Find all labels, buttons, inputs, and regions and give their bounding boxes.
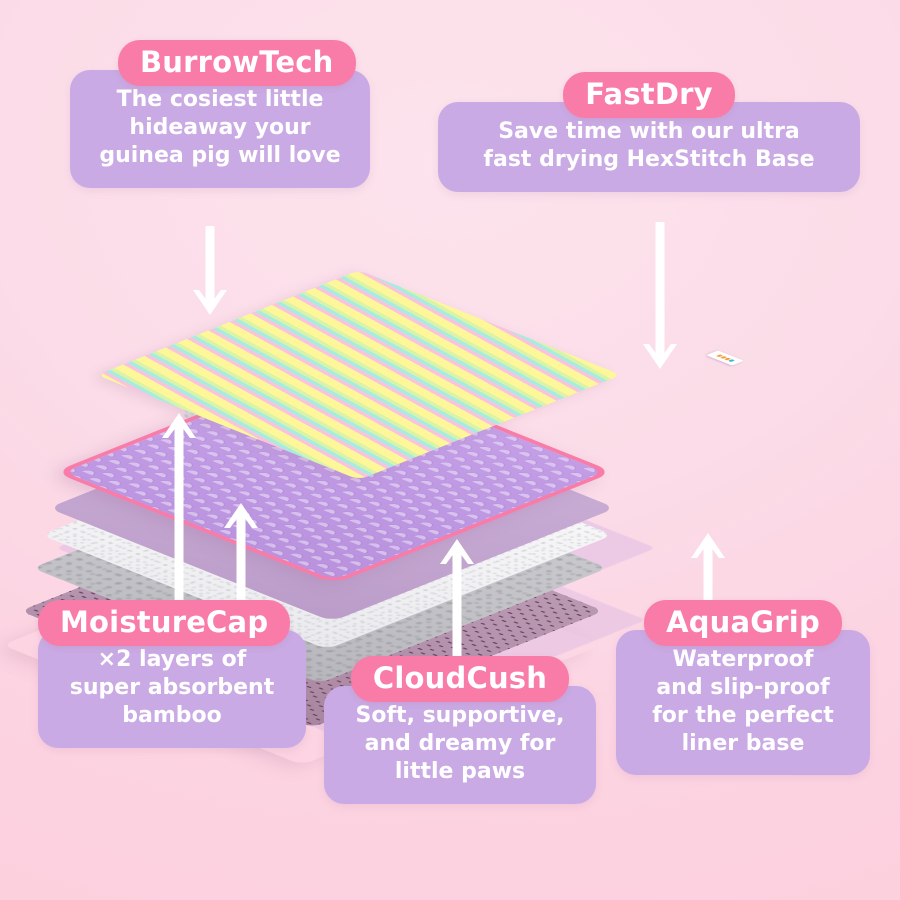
- callout-moisturecap: MoistureCap ×2 layers of super absorbent…: [38, 600, 306, 748]
- callout-burrowtech: BurrowTech The cosiest little hideaway y…: [70, 40, 370, 188]
- arrow-head-up-icon: [688, 530, 728, 560]
- callout-cloudcush: CloudCush Soft, supportive, and dreamy f…: [324, 656, 596, 804]
- callout-fastdry: FastDry Save time with our ultra fast dr…: [438, 72, 860, 192]
- arrow-cloudcush: [437, 536, 477, 666]
- callout-aquagrip-title: AquaGrip: [644, 600, 842, 646]
- callout-line: bamboo: [56, 702, 288, 730]
- brand-tag: [706, 350, 744, 365]
- arrow-head-down-icon: [190, 288, 230, 318]
- callout-line: Soft, supportive,: [342, 702, 578, 730]
- callout-line: liner base: [634, 730, 852, 758]
- arrow-fastdry: [640, 222, 680, 372]
- callout-line: guinea pig will love: [88, 142, 352, 170]
- callout-aquagrip-body: Waterproof and slip-proof for the perfec…: [616, 630, 870, 775]
- callout-line: little paws: [342, 758, 578, 786]
- callout-line: ×2 layers of: [56, 646, 288, 674]
- callout-line: and dreamy for: [342, 730, 578, 758]
- arrow-burrowtech: [190, 226, 230, 318]
- callout-cloudcush-title: CloudCush: [351, 656, 569, 702]
- arrow-head-up-icon: [159, 410, 199, 440]
- callout-moisturecap-title: MoistureCap: [38, 600, 290, 646]
- arrow-head-up-icon: [437, 536, 477, 566]
- callout-line: for the perfect: [634, 702, 852, 730]
- callout-line: hideaway your: [88, 114, 352, 142]
- callout-cloudcush-body: Soft, supportive, and dreamy for little …: [324, 686, 596, 803]
- arrow-moisturecap-b: [221, 500, 261, 608]
- callout-line: Waterproof: [634, 646, 852, 674]
- callout-line: and slip-proof: [634, 674, 852, 702]
- callout-fastdry-title: FastDry: [563, 72, 734, 118]
- arrow-head-down-icon: [640, 342, 680, 372]
- callout-burrowtech-title: BurrowTech: [118, 40, 356, 86]
- arrow-moisturecap-a: [159, 410, 199, 606]
- arrow-head-up-icon: [221, 500, 261, 530]
- callout-burrowtech-body: The cosiest little hideaway your guinea …: [70, 70, 370, 187]
- callout-line: The cosiest little: [88, 86, 352, 114]
- callout-line: Save time with our ultra: [456, 118, 842, 146]
- callout-line: super absorbent: [56, 674, 288, 702]
- callout-aquagrip: AquaGrip Waterproof and slip-proof for t…: [616, 600, 870, 775]
- callout-line: fast drying HexStitch Base: [456, 146, 842, 174]
- callout-moisturecap-body: ×2 layers of super absorbent bamboo: [38, 630, 306, 747]
